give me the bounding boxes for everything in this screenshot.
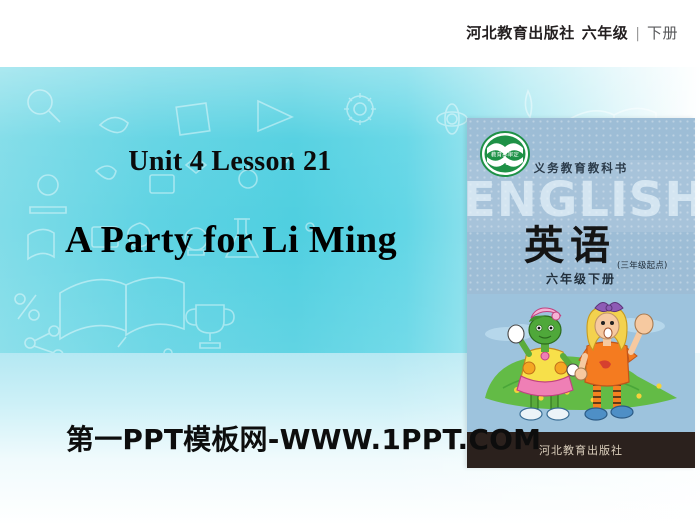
header-meta: 河北教育出版社 六年级 | 下册 <box>466 22 678 43</box>
textbook-cover-image: 教育部审定 2013 义务教育教科书 ENGLISH 英语 (三年级起点) 六年… <box>467 118 695 468</box>
header-separator: | <box>635 26 640 42</box>
grade-volume-label: 六年级下册 <box>467 270 695 287</box>
grade-label: 六年级 <box>582 22 629 43</box>
unit-lesson-heading: Unit 4 Lesson 21 <box>0 146 460 178</box>
english-watermark: ENGLISH <box>467 176 695 224</box>
page-title: A Party for Li Ming <box>0 218 462 262</box>
presentation-slide: 河北教育出版社 六年级 | 下册 Unit 4 Lesson 21 A Part… <box>0 0 700 525</box>
volume-label: 下册 <box>647 22 678 43</box>
cover-illustration <box>467 294 695 432</box>
site-watermark: 第一PPT模板网-WWW.1PPT.COM <box>66 418 541 458</box>
seal-text: 教育部审定 <box>491 151 519 159</box>
publisher-name: 河北教育出版社 <box>466 22 575 43</box>
